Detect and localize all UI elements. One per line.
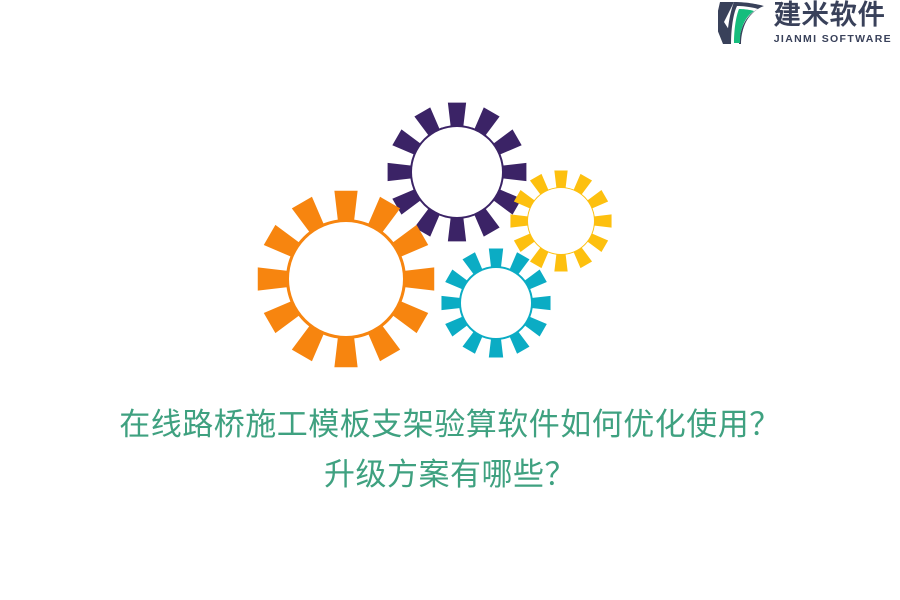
four-gears-illustration (250, 95, 630, 380)
gears-svg (250, 95, 630, 380)
page-title-line-1: 在线路桥施工模板支架验算软件如何优化使用？ (0, 400, 900, 450)
gear-orange-hub-hole (289, 222, 403, 336)
gear-orange (258, 191, 434, 367)
gear-yellow-hub-hole (528, 188, 594, 254)
brand-text-block: 建米软件 JIANMI SOFTWARE (774, 2, 892, 45)
brand-name-en: JIANMI SOFTWARE (774, 34, 892, 45)
jianmi-leaf-swoosh-logo-icon (718, 0, 766, 46)
page-title-line-2: 升级方案有哪些？ (0, 450, 900, 500)
gear-purple-hub-hole (412, 127, 502, 217)
gear-teal-hub-hole (461, 268, 531, 338)
gear-yellow (510, 170, 611, 271)
page-root: 建米软件 JIANMI SOFTWARE 在线路桥施工模板支架验算软件如何优化使… (0, 0, 900, 600)
gear-teal (441, 248, 550, 357)
brand-name-cn: 建米软件 (774, 2, 892, 29)
brand-logo[interactable]: 建米软件 JIANMI SOFTWARE (718, 0, 892, 46)
page-title: 在线路桥施工模板支架验算软件如何优化使用？ 升级方案有哪些？ (0, 400, 900, 500)
gear-purple (388, 103, 527, 242)
